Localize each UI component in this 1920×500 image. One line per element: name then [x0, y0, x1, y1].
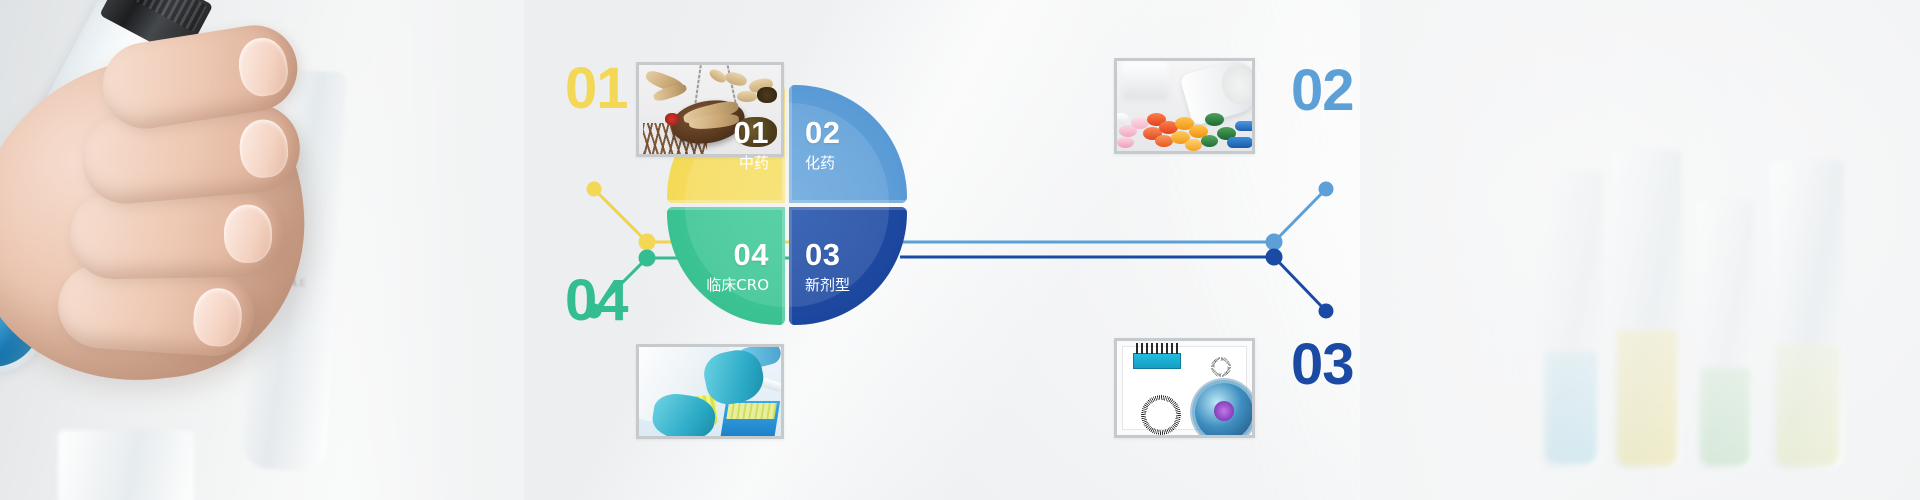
herb-slice — [708, 67, 729, 85]
fingernail — [235, 35, 291, 100]
thumbnail-03-liposome-diagram[interactable] — [1114, 338, 1255, 438]
hand-test-tube-photo: 50 ml STERILE — [0, 0, 520, 500]
pie-segment-label: 新剂型 — [805, 278, 850, 293]
liposome-diagram-image — [1117, 341, 1252, 435]
pill-row — [1117, 103, 1252, 151]
thumbnail-04-lab-technician[interactable] — [636, 344, 784, 439]
encapsulated-drug-core — [1214, 401, 1234, 421]
green-pill — [1205, 113, 1224, 126]
outer-number-04: 04 — [565, 272, 628, 330]
diagram-panel — [1122, 346, 1247, 430]
banner-stage: 50 ml STERILE — [0, 0, 1920, 500]
pie-segment-number: 03 — [805, 239, 840, 270]
pie-segment-03-new-formulation[interactable]: 03 新剂型 — [789, 207, 907, 325]
pink-pill — [1117, 137, 1134, 148]
fingernail — [192, 287, 244, 348]
pie-segment-04-clinical-cro[interactable]: 04 临床CRO — [667, 207, 785, 325]
small-micelle-diagram — [1207, 353, 1235, 381]
outer-number-02: 02 — [1291, 62, 1354, 120]
herb-slice — [737, 91, 757, 102]
yellow-pill — [1185, 139, 1202, 151]
photo-right-fade — [344, 0, 524, 500]
green-pill — [1201, 135, 1218, 147]
outer-number-01: 01 — [565, 60, 628, 118]
blue-tip-rack — [720, 401, 780, 439]
pie-segment-number: 04 — [734, 239, 769, 270]
pie-segment-number: 02 — [805, 117, 840, 148]
pie-segment-02-chemical-medicine[interactable]: 02 化药 — [789, 85, 907, 203]
outer-number-03: 03 — [1291, 336, 1354, 394]
liposome-bilayer-ring — [1133, 387, 1189, 438]
red-berry — [665, 113, 679, 125]
liposome-3d-sphere — [1195, 383, 1253, 438]
scale-chain — [694, 65, 702, 105]
dark-herb-heap — [757, 87, 777, 103]
pie-segment-label: 临床CRO — [706, 278, 769, 293]
hand-finger-ring — [69, 188, 285, 280]
pie-segment-label: 中药 — [739, 156, 769, 171]
lab-technician-image — [639, 347, 781, 436]
fingernail — [237, 118, 290, 180]
blurred-jar — [1121, 61, 1169, 101]
white-pill — [1114, 113, 1129, 124]
pie-segment-label: 化药 — [805, 156, 835, 171]
pills-and-bottle-image — [1117, 61, 1252, 151]
fingernail — [224, 204, 273, 263]
lipid-monolayer-diagram — [1133, 353, 1181, 369]
hand — [0, 24, 374, 444]
pie-segment-number: 01 — [734, 117, 769, 148]
blue-capsule — [1227, 137, 1253, 148]
background-fog-overlay — [1360, 0, 1920, 500]
blue-capsule — [1235, 121, 1255, 131]
thumbnail-02-pills[interactable] — [1114, 58, 1255, 154]
herb-slice — [724, 70, 748, 88]
